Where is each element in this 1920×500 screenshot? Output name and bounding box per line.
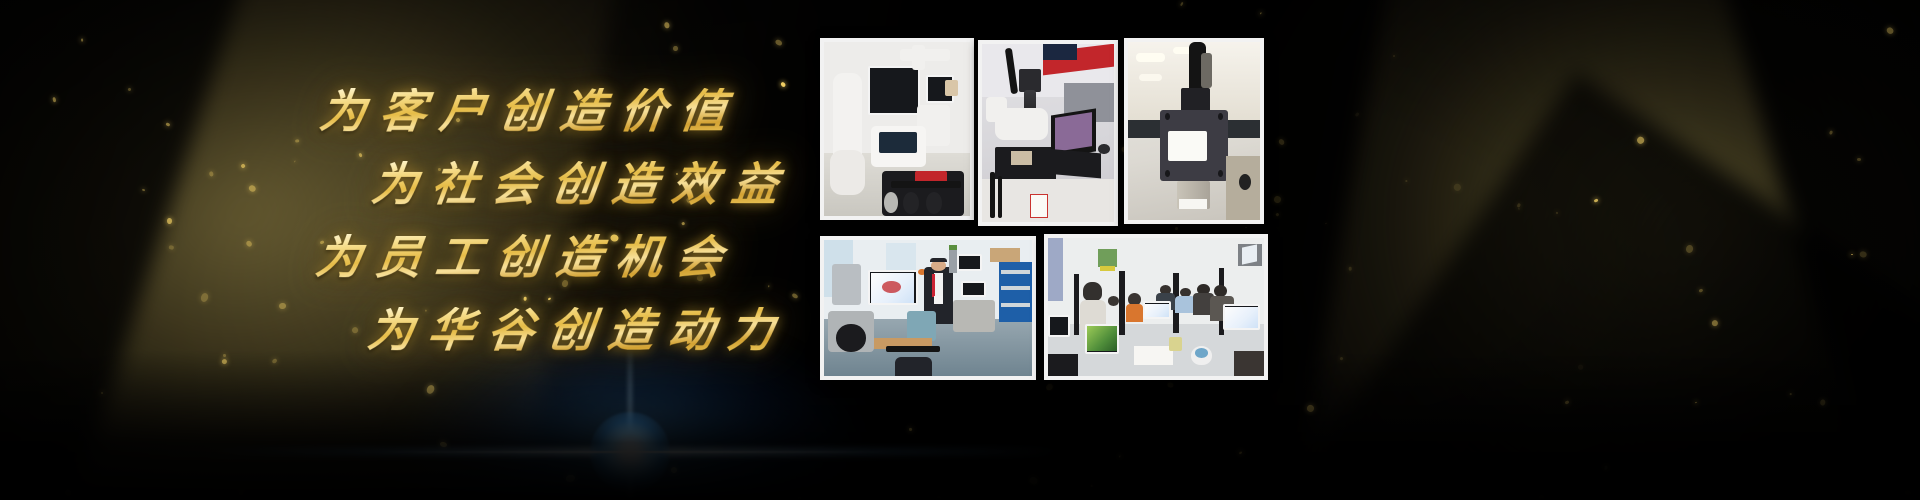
photo-microscope-laptop[interactable]: [978, 40, 1118, 226]
slogan-block: 为客户创造价值 为社会创造效益 为员工创造机会 为华谷创造动力: [0, 88, 800, 353]
slogan-line-4: 为华谷创造动力: [365, 307, 803, 353]
photo-collage: [820, 38, 1580, 380]
values-banner: 为客户创造价值 为社会创造效益 为员工创造机会 为华谷创造动力: [0, 0, 1920, 500]
slogan-line-1: 为客户创造价值: [317, 88, 803, 134]
slogan-line-2: 为社会创造效益: [369, 161, 803, 207]
slogan-line-3: 为员工创造机会: [313, 234, 803, 280]
photo-camera-module[interactable]: [1124, 38, 1264, 224]
photo-laser-machine[interactable]: [820, 38, 974, 220]
photo-lab-office[interactable]: [1044, 234, 1268, 380]
photo-engineer-station[interactable]: [820, 236, 1036, 380]
